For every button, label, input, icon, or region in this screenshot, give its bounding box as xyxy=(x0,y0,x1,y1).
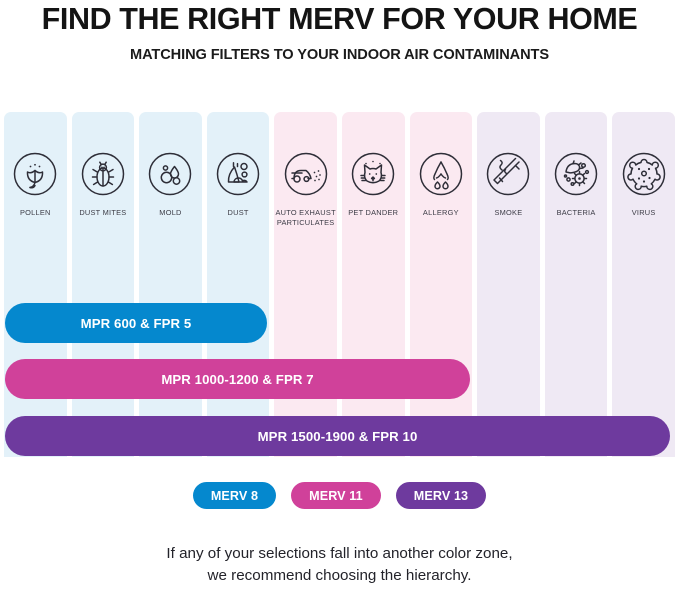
footer-line-1: If any of your selections fall into anot… xyxy=(0,543,679,565)
legend-pill-merv-13[interactable]: MERV 13 xyxy=(396,482,486,509)
car-exhaust-icon xyxy=(284,152,328,196)
coverage-bar-mpr-600[interactable]: MPR 600 & FPR 5 xyxy=(5,303,267,343)
contaminant-column-dust[interactable]: DUST xyxy=(207,112,270,457)
dust-cloud-icon xyxy=(216,152,260,196)
contaminant-column-pollen[interactable]: POLLEN xyxy=(4,112,67,457)
contaminant-column-allergy[interactable]: ALLERGY xyxy=(410,112,473,457)
page-subtitle: MATCHING FILTERS TO YOUR INDOOR AIR CONT… xyxy=(0,47,679,63)
contaminant-label: VIRUS xyxy=(610,208,677,218)
contaminant-label: POLLEN xyxy=(2,208,69,218)
contaminant-label: PET DANDER xyxy=(340,208,407,218)
contaminant-column-bacteria[interactable]: BACTERIA xyxy=(545,112,608,457)
page-title: FIND THE RIGHT MERV FOR YOUR HOME xyxy=(0,2,679,37)
contaminant-column-mold[interactable]: MOLD xyxy=(139,112,202,457)
legend-pill-merv-11[interactable]: MERV 11 xyxy=(291,482,381,509)
pollen-flower-icon xyxy=(13,152,57,196)
dust-mite-bug-icon xyxy=(81,152,125,196)
virus-icon xyxy=(622,152,666,196)
cat-face-icon xyxy=(351,152,395,196)
bacteria-icon xyxy=(554,152,598,196)
legend-pill-merv-8[interactable]: MERV 8 xyxy=(193,482,276,509)
merv-legend: MERV 8 MERV 11 MERV 13 xyxy=(0,482,679,509)
contaminant-column-virus[interactable]: VIRUS xyxy=(612,112,675,457)
contaminant-label: DUST xyxy=(205,208,272,218)
contaminant-label: SMOKE xyxy=(475,208,542,218)
contaminant-column-pet-dander[interactable]: PET DANDER xyxy=(342,112,405,457)
nose-icon xyxy=(419,152,463,196)
contaminant-label: ALLERGY xyxy=(408,208,475,218)
contaminant-column-auto-exhaust[interactable]: AUTO EXHAUST PARTICULATES xyxy=(274,112,337,457)
contaminant-label: MOLD xyxy=(137,208,204,218)
contaminant-columns: POLLEN DUST MITES xyxy=(4,112,675,457)
contaminant-column-smoke[interactable]: SMOKE xyxy=(477,112,540,457)
contaminant-label: BACTERIA xyxy=(543,208,610,218)
mold-spores-icon xyxy=(148,152,192,196)
coverage-bar-mpr-1500-1900[interactable]: MPR 1500-1900 & FPR 10 xyxy=(5,416,670,456)
cigarette-smoke-icon xyxy=(486,152,530,196)
footer-line-2: we recommend choosing the hierarchy. xyxy=(0,565,679,587)
coverage-bar-mpr-1000-1200[interactable]: MPR 1000-1200 & FPR 7 xyxy=(5,359,470,399)
footer-note: If any of your selections fall into anot… xyxy=(0,543,679,586)
infographic-page: FIND THE RIGHT MERV FOR YOUR HOME MATCHI… xyxy=(0,0,679,589)
contaminant-label: AUTO EXHAUST PARTICULATES xyxy=(272,208,339,228)
contaminant-column-dust-mites[interactable]: DUST MITES xyxy=(72,112,135,457)
contaminant-label: DUST MITES xyxy=(70,208,137,218)
